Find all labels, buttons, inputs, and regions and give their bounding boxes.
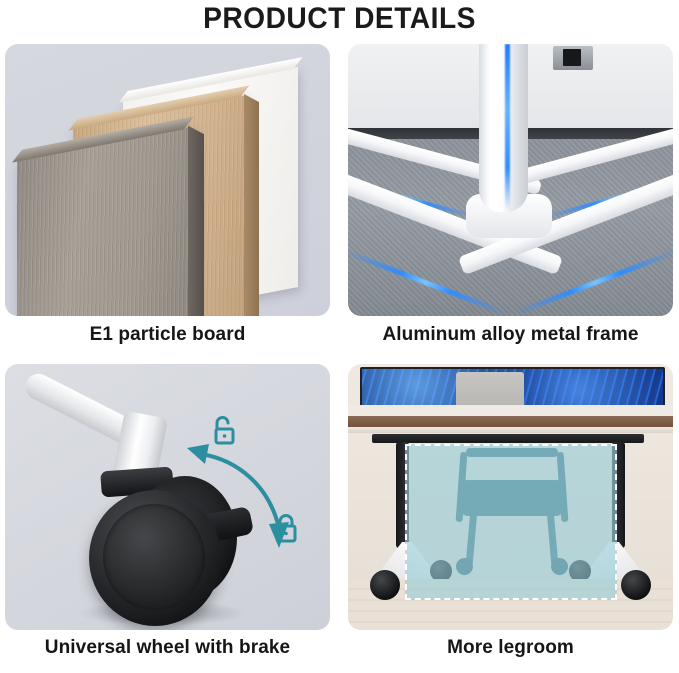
desk-support-beam (372, 434, 644, 443)
gray-board-sample (17, 127, 189, 316)
panel-e1-particle-board[interactable]: E1 particle board (5, 44, 330, 359)
legroom-highlight-area (405, 444, 617, 600)
panel-universal-wheel-with-brake[interactable]: Universal wheel with brake (5, 364, 330, 673)
panel-image-e1-particle-board (5, 44, 330, 316)
panel-aluminum-alloy-metal-frame[interactable]: Aluminum alloy metal frame (348, 44, 673, 359)
light-wood-board-side-edge (244, 94, 259, 316)
desk-caster-right (621, 570, 651, 600)
panel-image-more-legroom (348, 364, 673, 630)
gray-board-side-edge (188, 126, 204, 316)
desk-under-edge (348, 427, 673, 433)
post-blue-glow (505, 44, 510, 209)
panel-caption: E1 particle board (5, 323, 330, 347)
panel-caption: More legroom (348, 636, 673, 660)
desk-caster-left (370, 570, 400, 600)
page-title: PRODUCT DETAILS (20, 2, 658, 36)
center-post (479, 44, 528, 212)
monitor-foot (553, 46, 593, 70)
panel-caption: Aluminum alloy metal frame (348, 323, 673, 347)
panel-image-aluminum-alloy-metal-frame (348, 44, 673, 316)
lock-icon (273, 512, 299, 542)
monitor-foot-inset (563, 49, 581, 66)
product-details-grid: E1 particle board Aluminum alloy metal f… (0, 44, 679, 673)
panel-image-universal-wheel-with-brake (5, 364, 330, 630)
panel-caption: Universal wheel with brake (5, 636, 330, 660)
panel-more-legroom[interactable]: More legroom (348, 364, 673, 673)
unlock-icon (211, 414, 237, 444)
